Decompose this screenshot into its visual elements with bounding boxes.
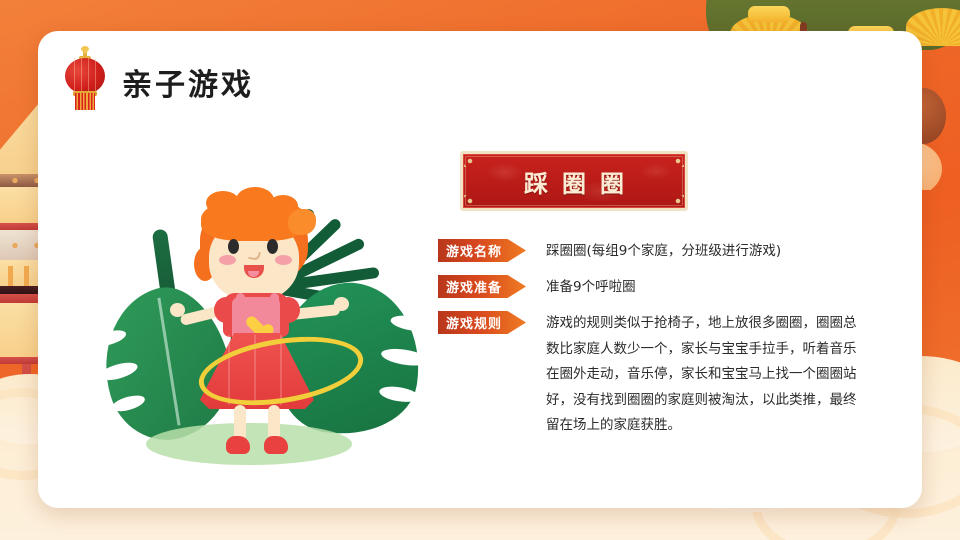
leaf-notch-r2 xyxy=(380,346,430,368)
banner-corner-bl xyxy=(464,195,476,207)
card-header: 亲子游戏 xyxy=(62,49,254,115)
leaf-notch-r3 xyxy=(378,384,420,404)
leaf-notch-l2 xyxy=(97,359,139,383)
slide-canvas: 亲子游戏 xyxy=(0,0,960,540)
banner-corner-tr xyxy=(672,155,684,167)
game-info-panel: 踩圈圈 游戏名称 踩圈圈(每组9个家庭，分班级进行游戏) 游戏准备 准备9个呼啦… xyxy=(438,151,890,450)
hair-bow xyxy=(288,209,316,235)
girl-with-hula-hoop-illustration xyxy=(98,171,428,481)
info-row-rules: 游戏规则 游戏的规则类似于抢椅子，地上放很多圈圈，圈圈总数比家庭人数少一个，家长… xyxy=(438,311,890,439)
tag-game-name-label: 游戏名称 xyxy=(446,241,502,260)
info-row-preparation: 游戏准备 准备9个呼啦圈 xyxy=(438,275,890,300)
tag-game-preparation-label: 游戏准备 xyxy=(446,277,502,296)
lantern-icon xyxy=(62,49,108,115)
hand-left xyxy=(170,303,185,317)
leaf-notch-l1 xyxy=(90,327,128,349)
lantern-tassel xyxy=(75,93,95,110)
shoe-right xyxy=(264,436,288,454)
game-rules-text: 游戏的规则类似于抢椅子，地上放很多圈圈，圈圈总数比家庭人数少一个，家长与宝宝手拉… xyxy=(546,311,864,439)
cheek-right xyxy=(275,255,292,265)
tag-game-name: 游戏名称 xyxy=(438,239,526,262)
page-title: 亲子游戏 xyxy=(122,60,254,104)
game-title-banner: 踩圈圈 xyxy=(460,151,688,211)
banner-title: 踩圈圈 xyxy=(510,164,638,199)
info-row-name: 游戏名称 踩圈圈(每组9个家庭，分班级进行游戏) xyxy=(438,239,890,264)
shoe-left xyxy=(226,436,250,454)
info-rows: 游戏名称 踩圈圈(每组9个家庭，分班级进行游戏) 游戏准备 准备9个呼啦圈 游戏… xyxy=(438,239,890,439)
leaf-notch-r1 xyxy=(390,313,434,333)
game-preparation-text: 准备9个呼啦圈 xyxy=(546,275,636,300)
lantern-rib-1 xyxy=(74,58,75,94)
lantern-rib-4 xyxy=(95,58,96,94)
game-name-text: 踩圈圈(每组9个家庭，分班级进行游戏) xyxy=(546,239,781,264)
lantern-rib-2 xyxy=(81,58,82,94)
sunburst-cap-1 xyxy=(748,6,790,22)
lantern-body xyxy=(65,58,105,94)
content-card: 亲子游戏 xyxy=(38,31,922,508)
eye-left xyxy=(228,239,239,254)
hand-right xyxy=(334,297,349,311)
hair-bump-1 xyxy=(206,191,240,215)
cheek-left xyxy=(219,255,236,265)
girl-figure xyxy=(176,193,366,461)
eye-right xyxy=(267,239,278,254)
tag-game-rules: 游戏规则 xyxy=(438,311,526,334)
lantern-rib-3 xyxy=(88,58,89,94)
banner-corner-br xyxy=(672,195,684,207)
banner-corner-tl xyxy=(464,155,476,167)
leaf-notch-l3 xyxy=(110,392,146,414)
tag-game-rules-label: 游戏规则 xyxy=(446,313,502,332)
tag-game-preparation: 游戏准备 xyxy=(438,275,526,298)
